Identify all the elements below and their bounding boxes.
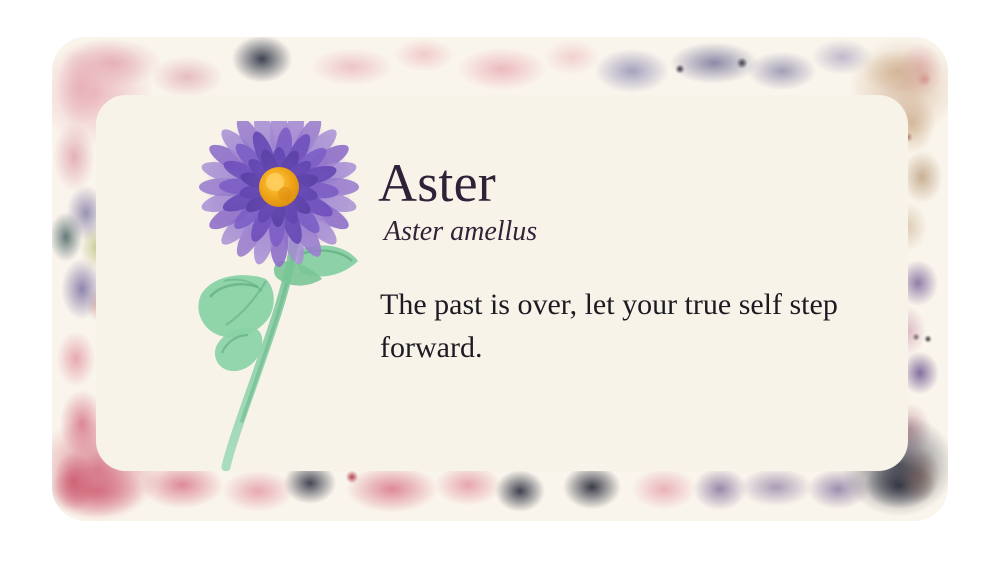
flower-latin-name: Aster amellus [384,215,898,249]
flower-card: Aster Aster amellus The past is over, le… [52,37,948,521]
page-canvas: Aster Aster amellus The past is over, le… [0,0,1000,563]
flower-common-name: Aster [378,155,898,211]
aster-flower-icon [152,121,372,471]
flower-meaning-quote: The past is over, let your true self ste… [380,283,880,369]
flower-text-block: Aster Aster amellus The past is over, le… [378,155,898,369]
